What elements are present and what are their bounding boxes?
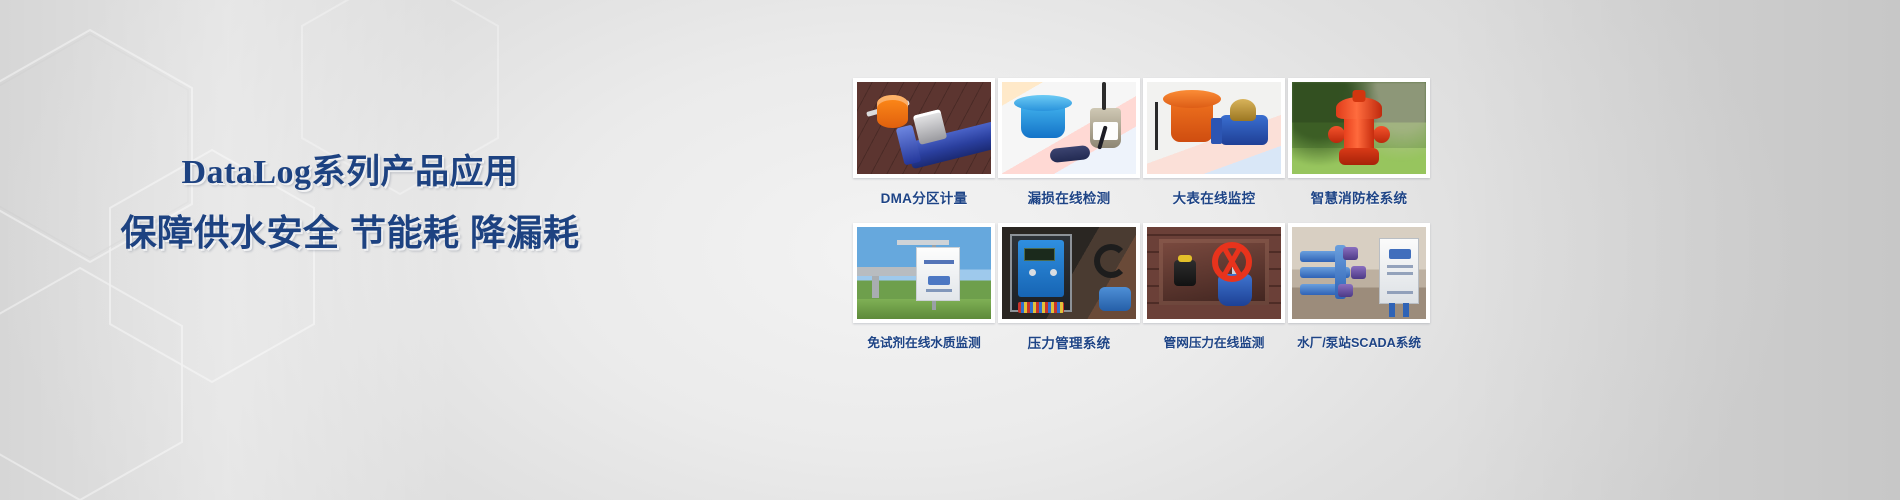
product-caption: DMA分区计量	[881, 187, 968, 207]
product-card-hydrant[interactable]: 智慧消防栓系统	[1288, 78, 1430, 221]
headline-line-1: DataLog系列产品应用	[0, 150, 700, 196]
product-card-water-quality[interactable]: 免试剂在线水质监测	[853, 223, 995, 366]
banner: DataLog系列产品应用 保障供水安全 节能耗 降漏耗 DMA分区计量 漏损在…	[0, 0, 1900, 500]
product-thumbnail-wrap[interactable]	[1288, 223, 1430, 323]
product-thumbnail-wrap[interactable]	[998, 223, 1140, 323]
product-caption: 免试剂在线水质监测	[867, 332, 980, 351]
bulk-meter-monitoring-image	[1147, 82, 1281, 174]
product-caption: 漏损在线检测	[1028, 187, 1111, 207]
product-caption: 压力管理系统	[1028, 332, 1111, 352]
dma-zone-metering-image	[857, 82, 991, 174]
product-card-leak[interactable]: 漏损在线检测	[998, 78, 1140, 221]
product-thumbnail-wrap[interactable]	[853, 223, 995, 323]
water-quality-monitoring-image	[857, 227, 991, 319]
product-card-network-pressure[interactable]: 管网压力在线监测	[1143, 223, 1285, 366]
pressure-management-image	[1002, 227, 1136, 319]
leak-detection-image	[1002, 82, 1136, 174]
product-card-dma[interactable]: DMA分区计量	[853, 78, 995, 221]
product-caption: 大表在线监控	[1173, 187, 1256, 207]
scada-system-image	[1292, 227, 1426, 319]
headline-line-2: 保障供水安全 节能耗 降漏耗	[0, 206, 700, 260]
product-card-meter[interactable]: 大表在线监控	[1143, 78, 1285, 221]
product-thumbnail-wrap[interactable]	[1143, 223, 1285, 323]
smart-hydrant-image	[1292, 82, 1426, 174]
product-caption: 智慧消防栓系统	[1311, 187, 1408, 207]
headline: DataLog系列产品应用 保障供水安全 节能耗 降漏耗	[0, 150, 700, 260]
product-caption: 管网压力在线监测	[1164, 332, 1265, 351]
product-thumbnail-wrap[interactable]	[853, 78, 995, 178]
product-grid: DMA分区计量 漏损在线检测 大表在线监控	[853, 78, 1333, 366]
product-thumbnail-wrap[interactable]	[1288, 78, 1430, 178]
product-card-pressure-management[interactable]: 压力管理系统	[998, 223, 1140, 366]
network-pressure-monitoring-image	[1147, 227, 1281, 319]
product-thumbnail-wrap[interactable]	[998, 78, 1140, 178]
product-card-scada[interactable]: 水厂/泵站SCADA系统	[1288, 223, 1430, 366]
product-caption: 水厂/泵站SCADA系统	[1297, 332, 1421, 351]
product-thumbnail-wrap[interactable]	[1143, 78, 1285, 178]
